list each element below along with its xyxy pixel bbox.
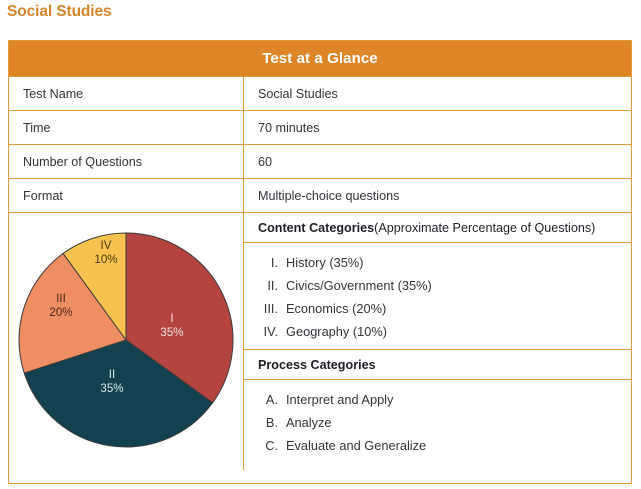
list-item-marker: I. (244, 251, 286, 274)
list-item-text: Civics/Government (35%) (286, 274, 631, 297)
table-row: Number of Questions 60 (9, 144, 631, 178)
list-item-marker: C. (244, 434, 286, 457)
row-label-format: Format (9, 179, 244, 212)
list-item-marker: A. (244, 388, 286, 411)
test-at-a-glance-page: Social Studies Test at a Glance Test Nam… (0, 0, 641, 489)
list-item-marker: B. (244, 411, 286, 434)
process-categories-heading: Process Categories (244, 350, 631, 380)
lower-section: I 35% II 35% III 20% IV 10% (9, 212, 631, 470)
row-value-time: 70 minutes (244, 111, 631, 144)
row-value-test-name: Social Studies (244, 77, 631, 110)
content-categories-heading-text: Content Categories (258, 221, 374, 235)
content-categories-pie-chart: I 35% II 35% III 20% IV 10% (17, 222, 235, 462)
list-item-text: Interpret and Apply (286, 388, 631, 411)
list-item-marker: III. (244, 297, 286, 320)
table-row: Time 70 minutes (9, 110, 631, 144)
process-categories-list: A. Interpret and Apply B. Analyze C. Eva… (244, 380, 631, 470)
pie-chart-svg (17, 222, 235, 462)
list-item: C. Evaluate and Generalize (244, 434, 631, 457)
row-value-format: Multiple-choice questions (244, 179, 631, 212)
page-title: Social Studies (7, 3, 112, 21)
test-at-a-glance-table: Test at a Glance Test Name Social Studie… (8, 40, 632, 484)
categories-column: Content Categories(Approximate Percentag… (244, 213, 631, 470)
list-item: IV. Geography (10%) (244, 320, 631, 343)
content-categories-list: I. History (35%) II. Civics/Government (… (244, 243, 631, 350)
list-item: III. Economics (20%) (244, 297, 631, 320)
content-categories-note: (Approximate Percentage of Questions) (374, 221, 595, 235)
list-item: A. Interpret and Apply (244, 388, 631, 411)
list-item: I. History (35%) (244, 251, 631, 274)
row-label-number-of-questions: Number of Questions (9, 145, 244, 178)
list-item-text: Geography (10%) (286, 320, 631, 343)
content-categories-heading: Content Categories(Approximate Percentag… (244, 213, 631, 243)
list-item-text: Evaluate and Generalize (286, 434, 631, 457)
pie-chart-cell: I 35% II 35% III 20% IV 10% (9, 213, 244, 470)
table-header: Test at a Glance (9, 41, 631, 76)
list-item-text: History (35%) (286, 251, 631, 274)
table-row: Test Name Social Studies (9, 76, 631, 110)
process-categories-heading-text: Process Categories (258, 358, 376, 372)
row-label-test-name: Test Name (9, 77, 244, 110)
list-item-text: Analyze (286, 411, 631, 434)
list-item-marker: II. (244, 274, 286, 297)
table-row: Format Multiple-choice questions (9, 178, 631, 212)
list-item-text: Economics (20%) (286, 297, 631, 320)
row-label-time: Time (9, 111, 244, 144)
list-item: II. Civics/Government (35%) (244, 274, 631, 297)
list-item: B. Analyze (244, 411, 631, 434)
row-value-number-of-questions: 60 (244, 145, 631, 178)
list-item-marker: IV. (244, 320, 286, 343)
